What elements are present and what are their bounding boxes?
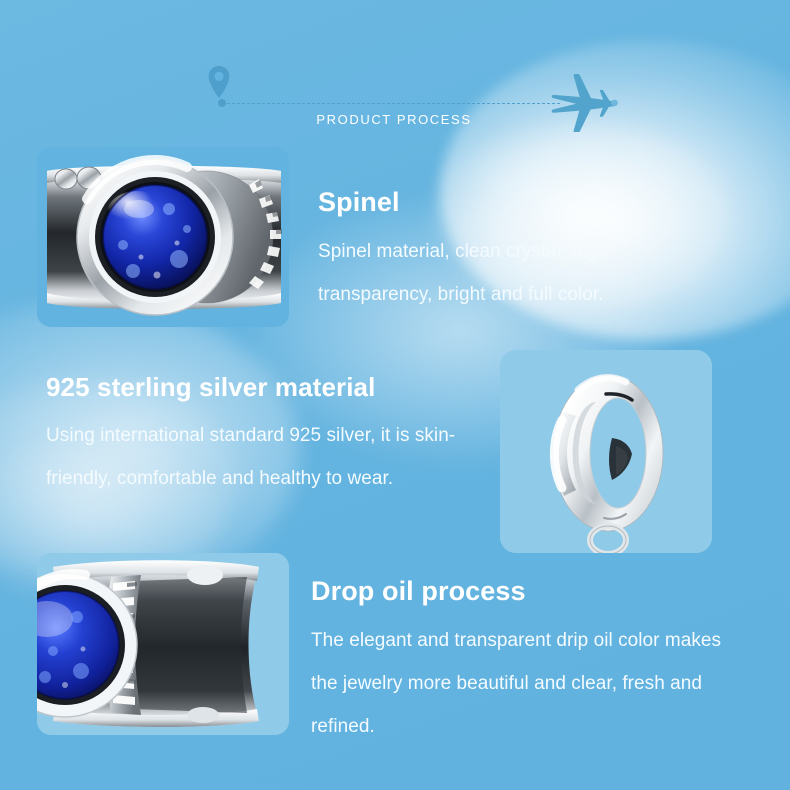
page-title: PRODUCT PROCESS (0, 112, 789, 127)
section-heading-drop-oil: Drop oil process (311, 577, 731, 607)
location-pin-icon (208, 66, 230, 98)
header-banner: PRODUCT PROCESS (0, 0, 790, 150)
product-image-drop-oil-bead (37, 553, 289, 735)
product-process-infographic: PRODUCT PROCESS (0, 0, 790, 790)
product-image-silver-clasp (500, 350, 712, 553)
section-body-sterling-silver: Using international standard 925 silver,… (46, 414, 466, 500)
section-drop-oil: Drop oil process The elegant and transpa… (311, 577, 731, 748)
section-body-drop-oil: The elegant and transparent drip oil col… (311, 619, 731, 748)
section-heading-spinel: Spinel (318, 188, 718, 218)
section-spinel: Spinel Spinel material, clean crystal, h… (318, 188, 718, 316)
section-body-spinel: Spinel material, clean crystal, high tra… (318, 230, 718, 316)
route-dashed-line (222, 103, 560, 104)
section-heading-sterling-silver: 925 sterling silver material (46, 373, 466, 402)
product-image-spinel-camera (37, 147, 289, 327)
section-sterling-silver: 925 sterling silver material Using inter… (46, 373, 466, 500)
